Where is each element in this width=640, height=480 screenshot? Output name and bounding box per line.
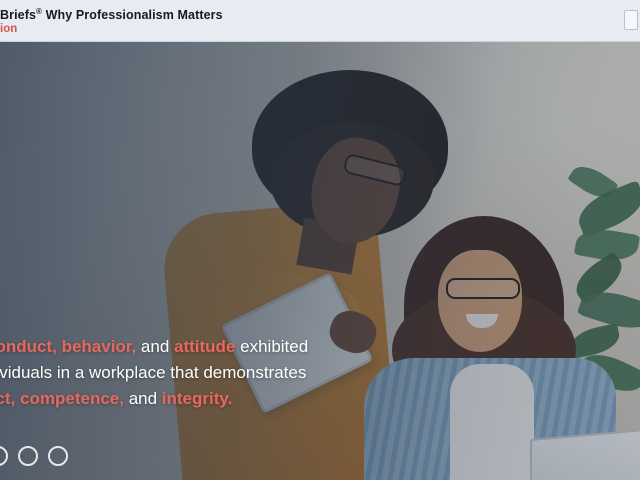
caption-text: and bbox=[136, 337, 174, 356]
hero-caption: conduct, behavior, and attitude exhibite… bbox=[0, 334, 366, 412]
page-header: Briefs® Why Professionalism Matters ion bbox=[0, 0, 640, 42]
carousel-dots bbox=[0, 446, 68, 466]
page-subtitle: ion bbox=[0, 23, 17, 35]
page-title-rest: Why Professionalism Matters bbox=[42, 8, 223, 22]
page-title: Briefs® Why Professionalism Matters bbox=[0, 7, 223, 22]
hero-overlay-tint bbox=[0, 42, 640, 480]
caption-highlight: attitude bbox=[174, 337, 235, 356]
caption-highlight: integrity. bbox=[162, 389, 233, 408]
caption-highlight: competence, bbox=[20, 389, 124, 408]
caption-text: and bbox=[124, 389, 162, 408]
caption-highlight: conduct, bbox=[0, 337, 62, 356]
carousel-dot-1[interactable] bbox=[0, 446, 8, 466]
carousel-dot-2[interactable] bbox=[18, 446, 38, 466]
app-root: Briefs® Why Professionalism Matters ion bbox=[0, 0, 640, 480]
caption-highlight: behavior, bbox=[62, 337, 137, 356]
header-menu-button[interactable] bbox=[624, 10, 638, 30]
caption-text: dividuals in a workplace that demonstrat… bbox=[0, 363, 306, 382]
hero-banner: conduct, behavior, and attitude exhibite… bbox=[0, 42, 640, 480]
page-title-main: Briefs bbox=[0, 8, 36, 22]
caption-text: exhibited bbox=[235, 337, 308, 356]
caption-highlight: ect, bbox=[0, 389, 20, 408]
carousel-dot-3[interactable] bbox=[48, 446, 68, 466]
